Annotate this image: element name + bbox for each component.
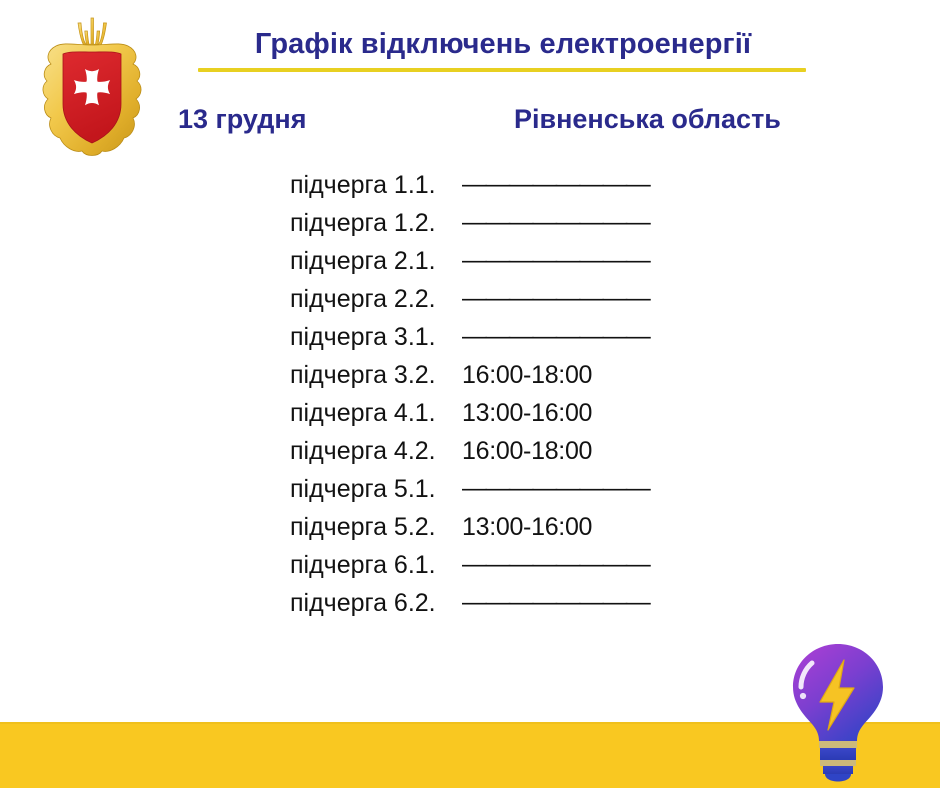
schedule-row: підчерга 1.1.———————— [290,166,710,204]
schedule-row: підчерга 4.1.13:00-16:00 [290,394,710,432]
queue-label: підчерга 3.2. [290,356,462,394]
schedule-row: підчерга 2.1.———————— [290,242,710,280]
outage-time-range: 16:00-18:00 [462,432,592,470]
schedule-row: підчерга 5.2.13:00-16:00 [290,508,710,546]
queue-label: підчерга 5.1. [290,470,462,508]
bulb-base-band-1 [819,741,857,748]
queue-label: підчерга 6.1. [290,546,462,584]
schedule-row: підчерга 6.1.———————— [290,546,710,584]
outage-schedule-list: підчерга 1.1.————————підчерга 1.2.——————… [290,166,710,622]
bulb-highlight-dot [800,693,806,699]
outage-time-range: 16:00-18:00 [462,356,592,394]
subtitle-row: 13 грудня Рівненська область [178,104,828,140]
no-outage-dash: ———————— [462,165,649,203]
no-outage-dash: ———————— [462,279,649,317]
schedule-row: підчерга 4.2.16:00-18:00 [290,432,710,470]
schedule-row: підчерга 3.1.———————— [290,318,710,356]
bulb-base-seg-2 [823,766,853,774]
queue-label: підчерга 4.1. [290,394,462,432]
queue-label: підчерга 2.2. [290,280,462,318]
schedule-date: 13 грудня [178,104,306,135]
bulb-base-tip [825,774,851,782]
bulb-base-seg-1 [820,748,856,760]
no-outage-dash: ———————— [462,469,649,507]
no-outage-dash: ———————— [462,241,649,279]
no-outage-dash: ———————— [462,317,649,355]
schedule-row: підчерга 3.2.16:00-18:00 [290,356,710,394]
title-underline-rule [198,68,806,72]
queue-label: підчерга 1.1. [290,166,462,204]
queue-label: підчерга 1.2. [290,204,462,242]
queue-label: підчерга 3.1. [290,318,462,356]
region-name: Рівненська область [514,104,781,135]
queue-label: підчерга 4.2. [290,432,462,470]
schedule-row: підчерга 6.2.———————— [290,584,710,622]
page-title: Графік відключень електроенергії [198,28,808,61]
light-bulb-icon [779,636,897,788]
queue-label: підчерга 2.1. [290,242,462,280]
schedule-row: підчерга 1.2.———————— [290,204,710,242]
queue-label: підчерга 5.2. [290,508,462,546]
no-outage-dash: ———————— [462,545,649,583]
queue-label: підчерга 6.2. [290,584,462,622]
schedule-row: підчерга 2.2.———————— [290,280,710,318]
schedule-row: підчерга 5.1.———————— [290,470,710,508]
outage-time-range: 13:00-16:00 [462,508,592,546]
coat-of-arms-rivne-oblast [26,12,158,162]
bulb-base-band-2 [820,760,856,766]
outage-time-range: 13:00-16:00 [462,394,592,432]
no-outage-dash: ———————— [462,583,649,621]
no-outage-dash: ———————— [462,203,649,241]
